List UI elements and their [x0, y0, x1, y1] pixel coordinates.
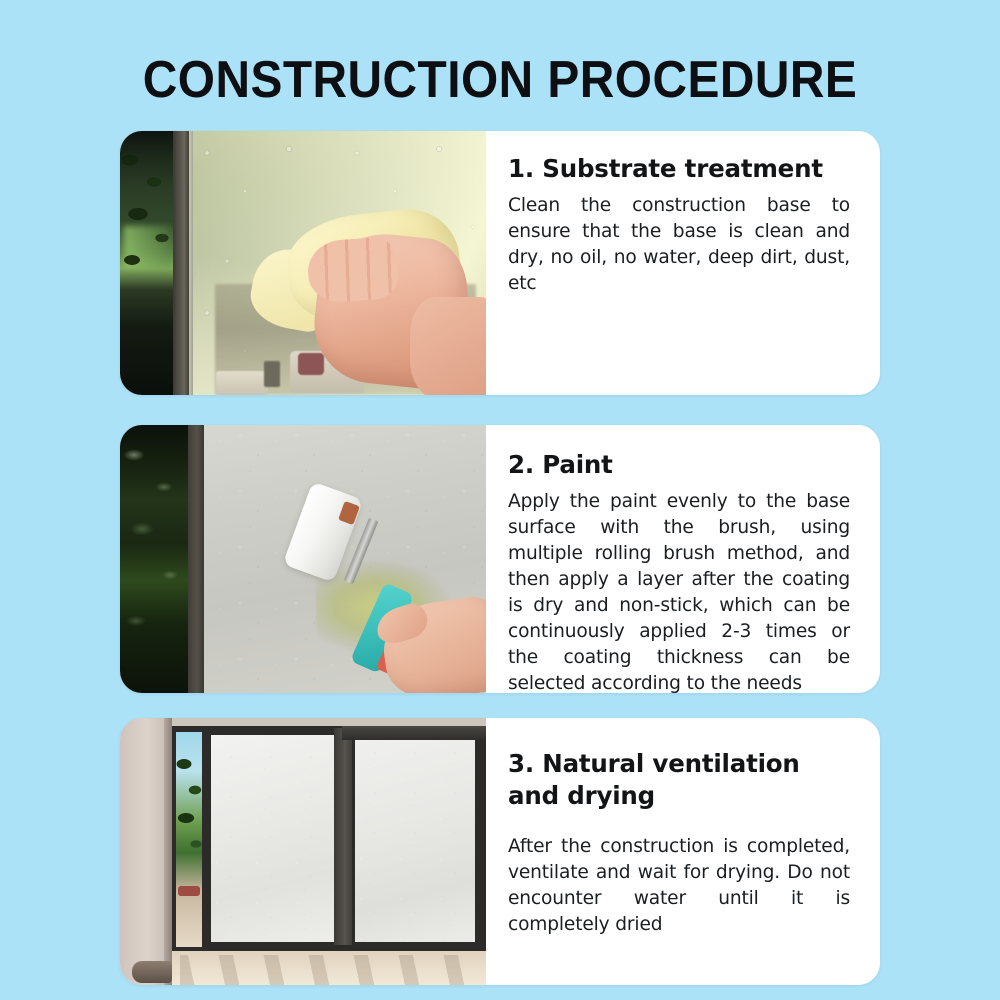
- step-card-2: 2. Paint Apply the paint evenly to the b…: [120, 425, 880, 693]
- wrist: [410, 297, 486, 395]
- floor-light-shadow: [180, 955, 486, 985]
- infographic-page: CONSTRUCTION PROCEDURE 1. Substrate trea…: [0, 0, 1000, 1000]
- outdoor-tree-icon: [176, 752, 202, 862]
- interior-pillow: [298, 353, 324, 375]
- window-mullion: [173, 131, 189, 395]
- frosted-glass-panel-left: [208, 732, 342, 945]
- frosted-glass-panel-right: [352, 728, 478, 945]
- step-1-text: Clean the construction base to ensure th…: [508, 193, 850, 297]
- interior-table: [216, 371, 268, 395]
- step-3-photo: [120, 718, 486, 985]
- interior-vase: [264, 361, 280, 387]
- foliage-outside-icon: [120, 425, 188, 693]
- step-1-heading: 1. Substrate treatment: [508, 153, 850, 185]
- foliage-outside-icon: [120, 142, 174, 306]
- door-stop: [132, 961, 172, 983]
- step-3-text: After the construction is completed, ven…: [508, 834, 850, 938]
- door-header-bar: [342, 726, 486, 740]
- frost-texture: [211, 735, 339, 942]
- window-frame: [188, 425, 204, 693]
- side-wall-edge: [164, 718, 172, 985]
- side-wall: [120, 718, 168, 985]
- frost-texture: [355, 731, 475, 942]
- step-2-heading: 2. Paint: [508, 449, 850, 481]
- step-3-body: 3. Natural ventilation and drying After …: [486, 718, 880, 985]
- step-2-body: 2. Paint Apply the paint evenly to the b…: [486, 425, 880, 693]
- outdoor-car-icon: [178, 886, 200, 896]
- step-2-text: Apply the paint evenly to the base surfa…: [508, 489, 850, 693]
- step-3-heading: 3. Natural ventilation and drying: [508, 748, 850, 812]
- step-card-3: 3. Natural ventilation and drying After …: [120, 718, 880, 985]
- step-1-body: 1. Substrate treatment Clean the constru…: [486, 131, 880, 395]
- step-2-photo: [120, 425, 486, 693]
- step-1-photo: [120, 131, 486, 395]
- page-title: CONSTRUCTION PROCEDURE: [40, 51, 960, 109]
- fingers: [306, 236, 400, 304]
- step-card-1: 1. Substrate treatment Clean the constru…: [120, 131, 880, 395]
